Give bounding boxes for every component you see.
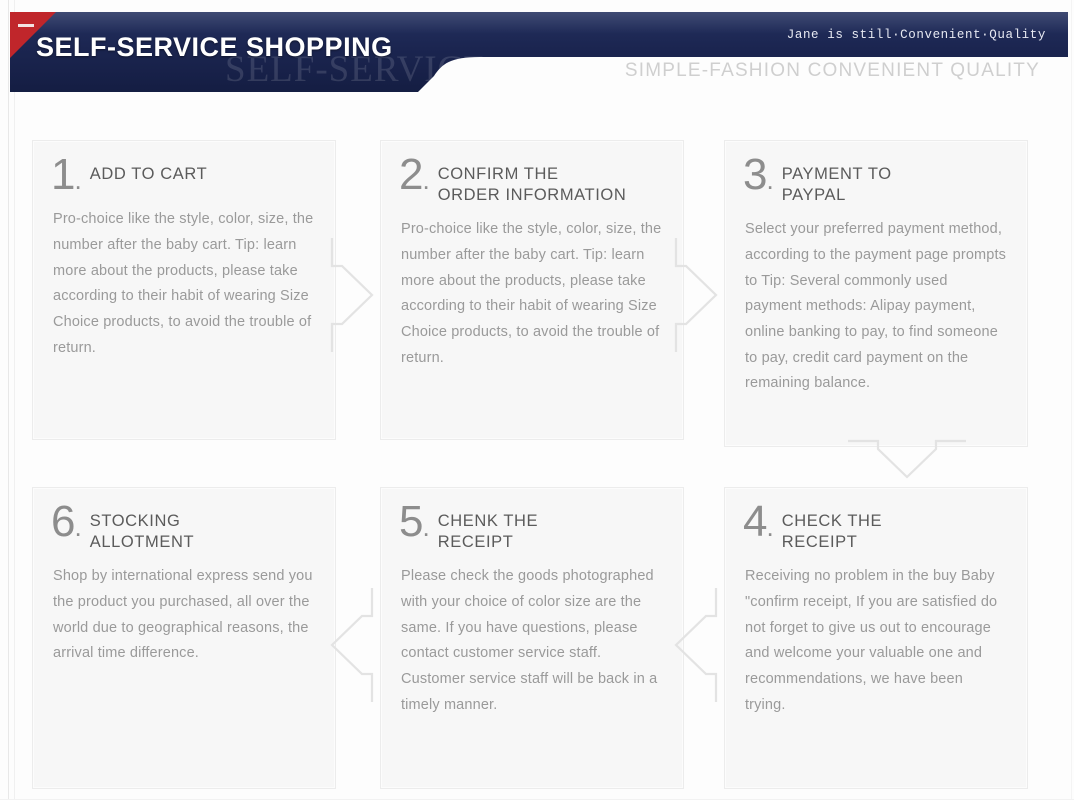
arrow-right-icon — [328, 222, 376, 368]
step-2-title: CONFIRM THE ORDER INFORMATION — [438, 164, 627, 205]
step-1-header: 1. ADD TO CART — [33, 141, 335, 195]
step-5-number: 5. — [399, 502, 429, 542]
arrow-right-icon — [672, 222, 720, 368]
step-1-number: 1. — [51, 155, 81, 195]
step-card-3: 3. PAYMENT TO PAYPAL Select your preferr… — [724, 140, 1028, 447]
step-5-body: Please check the goods photographed with… — [381, 552, 683, 740]
step-1-title: ADD TO CART — [90, 164, 208, 185]
step-5-header: 5. CHENK THE RECEIPT — [381, 488, 683, 552]
frame-line-left-outer — [8, 0, 9, 800]
step-3-header: 3. PAYMENT TO PAYPAL — [725, 141, 1027, 205]
step-4-number: 4. — [743, 502, 773, 542]
step-card-4: 4. CHECK THE RECEIPT Receiving no proble… — [724, 487, 1028, 789]
arrow-down-icon — [832, 437, 982, 483]
banner-tagline: Jane is still·Convenient·Quality — [787, 28, 1046, 42]
step-card-2: 2. CONFIRM THE ORDER INFORMATION Pro-cho… — [380, 140, 684, 440]
step-6-number: 6. — [51, 502, 81, 542]
step-3-number: 3. — [743, 155, 773, 195]
step-6-title: STOCKING ALLOTMENT — [90, 511, 194, 552]
frame-line-right — [1071, 0, 1072, 800]
step-3-title: PAYMENT TO PAYPAL — [782, 164, 892, 205]
step-2-header: 2. CONFIRM THE ORDER INFORMATION — [381, 141, 683, 205]
step-card-1: 1. ADD TO CART Pro-choice like the style… — [32, 140, 336, 440]
step-3-body: Select your preferred payment method, ac… — [725, 205, 1027, 419]
step-2-body: Pro-choice like the style, color, size, … — [381, 205, 683, 393]
step-4-title: CHECK THE RECEIPT — [782, 511, 882, 552]
step-6-body: Shop by international express send you t… — [33, 552, 335, 689]
step-5-title: CHENK THE RECEIPT — [438, 511, 538, 552]
self-service-shopping-infographic: SELF-SERVICE SELF-SERVICE SHOPPING Jane … — [0, 0, 1074, 800]
arrow-left-icon — [672, 572, 720, 718]
step-1-body: Pro-choice like the style, color, size, … — [33, 195, 335, 383]
step-card-6: 6. STOCKING ALLOTMENT Shop by internatio… — [32, 487, 336, 789]
page-title: SELF-SERVICE SHOPPING — [36, 32, 393, 63]
red-corner-dash-icon — [18, 24, 34, 27]
step-4-header: 4. CHECK THE RECEIPT — [725, 488, 1027, 552]
step-4-body: Receiving no problem in the buy Baby "co… — [725, 552, 1027, 740]
sub-tagline: SIMPLE-FASHION CONVENIENT QUALITY — [625, 60, 1040, 82]
step-card-5: 5. CHENK THE RECEIPT Please check the go… — [380, 487, 684, 789]
step-2-number: 2. — [399, 155, 429, 195]
step-6-header: 6. STOCKING ALLOTMENT — [33, 488, 335, 552]
frame-line-left-inner — [14, 0, 15, 800]
arrow-left-icon — [328, 572, 376, 718]
